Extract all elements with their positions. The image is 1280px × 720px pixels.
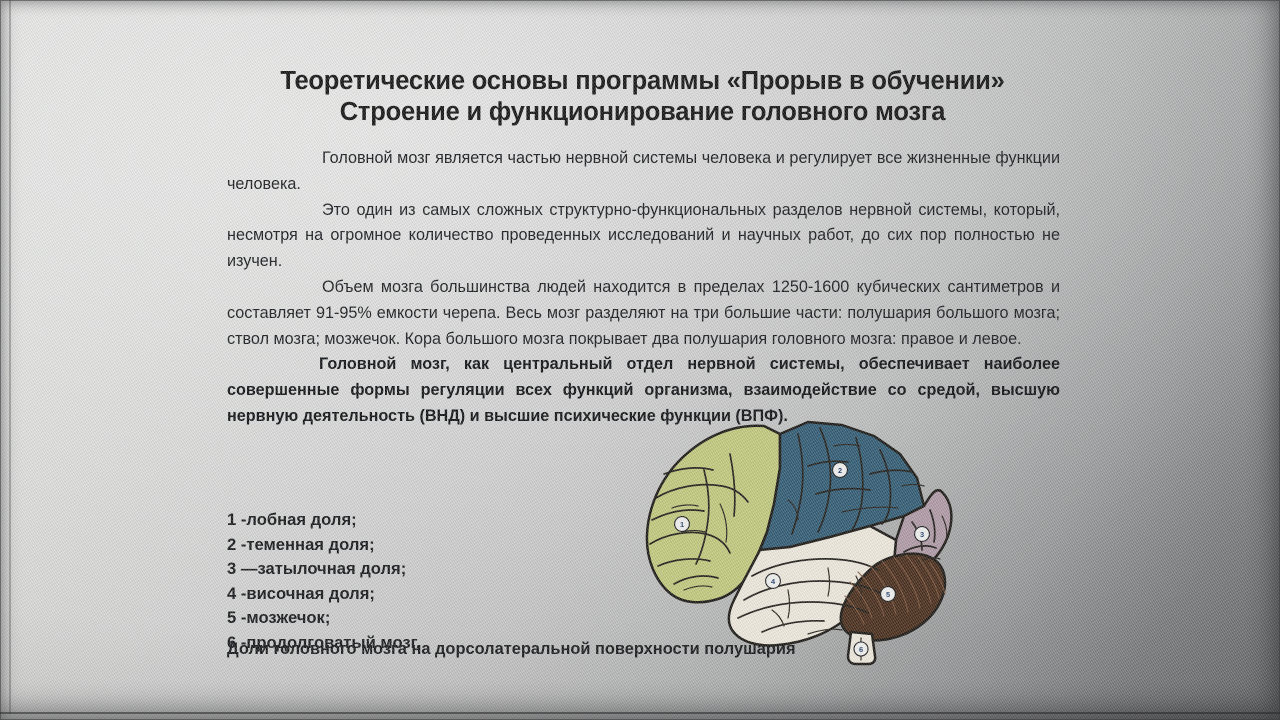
brain-diagram: 1 2 3 4 5 <box>612 404 982 672</box>
callout-5-cerebellum: 5 <box>881 587 896 602</box>
legend-label-5: мозжечок; <box>246 608 330 627</box>
legend-number-4: 4 <box>227 584 236 603</box>
legend-number-1: 1 <box>227 510 236 529</box>
callout-2-parietal-lobe: 2 <box>833 463 848 478</box>
legend-label-4: височная доля; <box>246 584 375 603</box>
callout-2-label: 2 <box>838 466 842 475</box>
slide-title: Теоретические основы программы «Прорыв в… <box>225 66 1060 128</box>
legend-item-2: 2 -теменная доля; <box>227 533 421 558</box>
slide-content: Теоретические основы программы «Прорыв в… <box>0 0 1280 720</box>
callout-5-label: 5 <box>886 590 890 599</box>
legend-item-3: 3 —затылочная доля; <box>227 557 421 582</box>
legend-item-1: 1 -лобная доля; <box>227 508 421 533</box>
legend-number-3: 3 <box>227 559 236 578</box>
callout-4-temporal-lobe: 4 <box>766 574 781 589</box>
slide-title-line-2: Строение и функционирование головного мо… <box>225 97 1060 128</box>
paragraph-1: Головной мозг является частью нервной си… <box>227 146 1060 198</box>
callout-6-medulla: 6 <box>854 642 868 656</box>
legend-number-5: 5 <box>227 608 236 627</box>
callout-6-label: 6 <box>859 645 863 654</box>
callout-1-frontal-lobe: 1 <box>675 517 690 532</box>
legend-label-1: лобная доля; <box>246 510 356 529</box>
legend-item-4: 4 -височная доля; <box>227 582 421 607</box>
paragraph-2: Это один из самых сложных структурно-фун… <box>227 198 1060 275</box>
slide-body-text: Головной мозг является частью нервной си… <box>227 146 1060 430</box>
brain-legend-list: 1 -лобная доля; 2 -теменная доля; 3 —зат… <box>227 508 421 656</box>
legend-item-5: 5 -мозжечок; <box>227 606 421 631</box>
paragraph-3: Объем мозга большинства людей находится … <box>227 275 1060 352</box>
projected-slide-photo: Теоретические основы программы «Прорыв в… <box>0 0 1280 720</box>
callout-1-label: 1 <box>680 520 684 529</box>
callout-3-label: 3 <box>920 530 924 539</box>
slide-title-line-1: Теоретические основы программы «Прорыв в… <box>225 66 1060 97</box>
legend-number-2: 2 <box>227 535 236 554</box>
legend-label-3: затылочная доля; <box>257 559 406 578</box>
legend-label-2: теменная доля; <box>246 535 374 554</box>
legend-dash-3: — <box>241 559 258 578</box>
callout-3-occipital-lobe: 3 <box>915 527 930 542</box>
